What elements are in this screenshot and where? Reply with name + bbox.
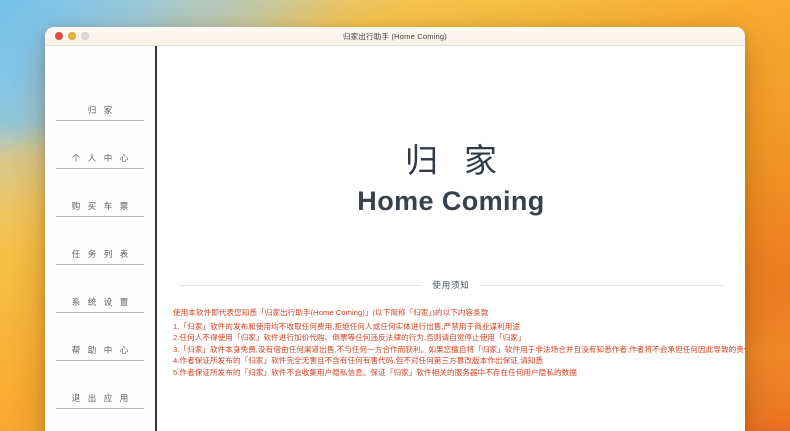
window-title: 归家出行助手 (Home Coming) [45,31,745,42]
hero-title-cn: 归家 [173,144,729,177]
terms-item-5: 5.作者保证所发布的「归家」软件不会收集用户隐私信息。保证「归家」软件相关的服务… [173,367,729,379]
terms-item-3: 3.「归家」软件本身免费,没有借由任何渠道出售,不与任何一方合作而获利。如果您擅… [173,344,729,356]
sidebar-item-task-list[interactable]: 任务列表 [56,248,144,265]
traffic-light-group [55,32,89,40]
hero-section: 归家 Home Coming [173,46,729,215]
terms-list: 使用本软件即代表您知悉「归家出行助手(Home Coming)」(以下简称「归家… [173,307,729,379]
notice-title: 使用须知 [432,279,469,291]
desktop-wallpaper: 归家出行助手 (Home Coming) 归家 个人中心 购买车票 任务列表 系… [0,0,790,431]
main-content: 归家 Home Coming 使用须知 使用本软件即代表您知悉「归家出行助手(H… [157,46,745,431]
sidebar-item-buy-ticket[interactable]: 购买车票 [56,200,144,217]
terms-item-2: 2.任何人不得使用「归家」软件进行加价代购、倒票等任何违反法律的行为,否则请自觉… [173,332,729,344]
sidebar: 归家 个人中心 购买车票 任务列表 系统设置 帮助中心 退出应用 [45,46,155,431]
sidebar-item-settings[interactable]: 系统设置 [56,296,144,313]
sidebar-item-exit[interactable]: 退出应用 [56,392,144,409]
close-button[interactable] [55,32,63,40]
notice-rule-right [480,285,723,286]
zoom-button [81,32,89,40]
notice-rule-left [179,285,422,286]
hero-title-en: Home Coming [173,188,729,215]
terms-lead: 使用本软件即代表您知悉「归家出行助手(Home Coming)」(以下简称「归家… [173,307,729,319]
window-titlebar[interactable]: 归家出行助手 (Home Coming) [45,27,745,46]
sidebar-item-home[interactable]: 归家 [56,104,144,121]
app-window: 归家出行助手 (Home Coming) 归家 个人中心 购买车票 任务列表 系… [45,27,745,431]
notice-heading: 使用须知 [173,279,729,291]
minimize-button[interactable] [68,32,76,40]
sidebar-item-profile[interactable]: 个人中心 [56,152,144,169]
terms-item-4: 4.作者保证所发布的「归家」软件完全无害且不含有任何有害代码,但不对任何第三方篡… [173,355,729,367]
window-body: 归家 个人中心 购买车票 任务列表 系统设置 帮助中心 退出应用 归家 Home… [45,46,745,431]
terms-item-1: 1.「归家」软件的发布和使用均不收取任何费用,拒绝任何人或任何实体进行出售,严禁… [173,321,729,333]
sidebar-item-help[interactable]: 帮助中心 [56,344,144,361]
